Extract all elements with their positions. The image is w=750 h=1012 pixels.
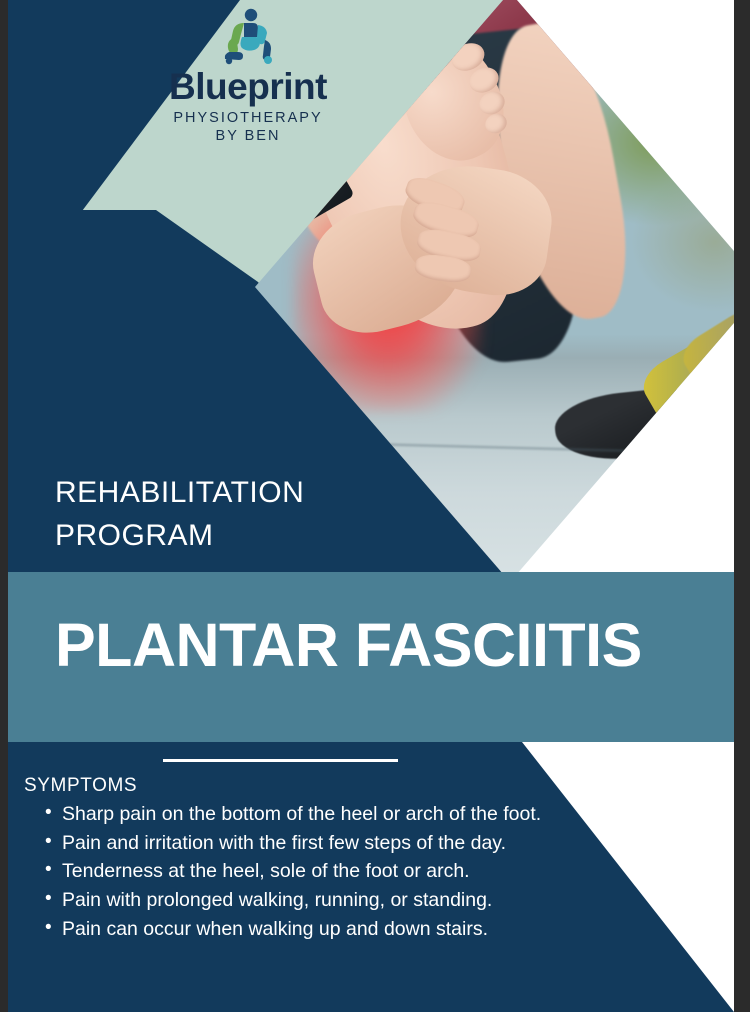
- header-section: Blueprint PHYSIOTHERAPY BY BEN REHABILIT…: [8, 0, 734, 572]
- kicker-line-2: PROGRAM: [55, 515, 304, 558]
- photo-shoe-sole-highlight: [676, 303, 734, 402]
- kicker-line-1: REHABILITATION: [55, 472, 304, 515]
- list-item: Pain can occur when walking up and down …: [62, 915, 541, 944]
- list-item: Sharp pain on the bottom of the heel or …: [62, 800, 541, 829]
- brand-logo: Blueprint PHYSIOTHERAPY BY BEN: [168, 8, 328, 144]
- program-kicker: REHABILITATION PROGRAM: [55, 472, 304, 557]
- viewport-right-edge: [734, 0, 750, 1012]
- logo-wordmark: Blueprint: [168, 68, 328, 107]
- symptoms-list: Sharp pain on the bottom of the heel or …: [36, 800, 541, 943]
- page-title: PLANTAR FASCIITIS: [55, 610, 642, 680]
- symptoms-section: SYMPTOMS Sharp pain on the bottom of the…: [8, 742, 734, 1012]
- seated-physiotherapy-figure-icon: [213, 8, 283, 66]
- list-item: Pain and irritation with the first few s…: [62, 829, 541, 858]
- logo-byline: BY BEN: [168, 128, 328, 144]
- list-item: Tenderness at the heel, sole of the foot…: [62, 857, 541, 886]
- list-item: Pain with prolonged walking, running, or…: [62, 886, 541, 915]
- photo-shoe: [552, 384, 708, 465]
- poster-page: Blueprint PHYSIOTHERAPY BY BEN REHABILIT…: [8, 0, 734, 1012]
- logo-tagline: PHYSIOTHERAPY: [168, 110, 328, 126]
- symptoms-heading: SYMPTOMS: [24, 775, 137, 797]
- title-band: PLANTAR FASCIITIS: [8, 572, 734, 742]
- viewport-left-edge: [0, 0, 8, 1012]
- section-divider: [163, 759, 398, 762]
